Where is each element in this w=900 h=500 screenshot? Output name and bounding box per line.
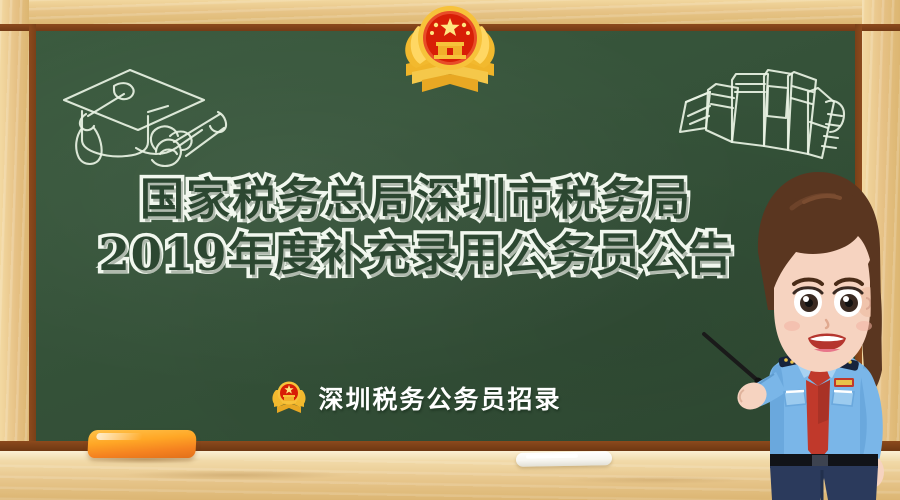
subtitle-row: 深圳税务公务员招录 — [36, 380, 796, 416]
frame-inner-border-left — [29, 24, 36, 448]
subtitle-text: 深圳税务公务员招录 — [318, 380, 561, 416]
chalkboard-announcement-poster: 国家税务总局深圳市税务局 2019年度补充录用公务员公告 深圳税务公务员招录 — [0, 0, 900, 500]
tax-officer-character — [700, 160, 900, 500]
chalk-stick-icon — [516, 451, 612, 467]
title-line-2: 2019年度补充录用公务员公告 — [36, 227, 796, 284]
title-line-1: 国家税务总局深圳市税务局 — [36, 172, 796, 227]
tax-bureau-emblem — [392, 2, 508, 98]
tax-bureau-emblem-small — [270, 380, 308, 416]
frame-left-wood — [0, 0, 29, 452]
blackboard-eraser-icon — [87, 430, 196, 458]
page-title: 国家税务总局深圳市税务局 2019年度补充录用公务员公告 — [36, 172, 796, 284]
ledge-wood-grain — [120, 470, 350, 480]
